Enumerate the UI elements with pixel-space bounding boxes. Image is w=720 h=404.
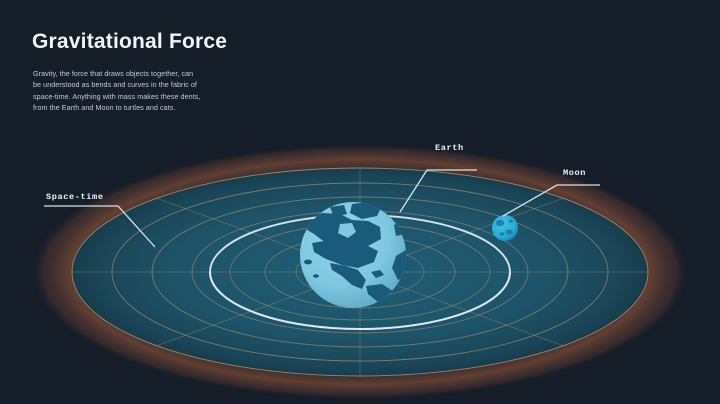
infographic-canvas: Gravitational Force Gravity, the force t… <box>0 0 720 404</box>
intro-paragraph: Gravity, the force that draws objects to… <box>33 68 203 113</box>
callout-label-earth: Earth <box>435 143 464 153</box>
moon-body <box>492 215 518 241</box>
space-time-diagram <box>0 0 720 404</box>
callout-label-moon: Moon <box>563 168 586 178</box>
callout-label-space-time: Space-time <box>46 192 104 202</box>
earth-globe <box>300 202 406 308</box>
page-title: Gravitational Force <box>32 30 227 54</box>
